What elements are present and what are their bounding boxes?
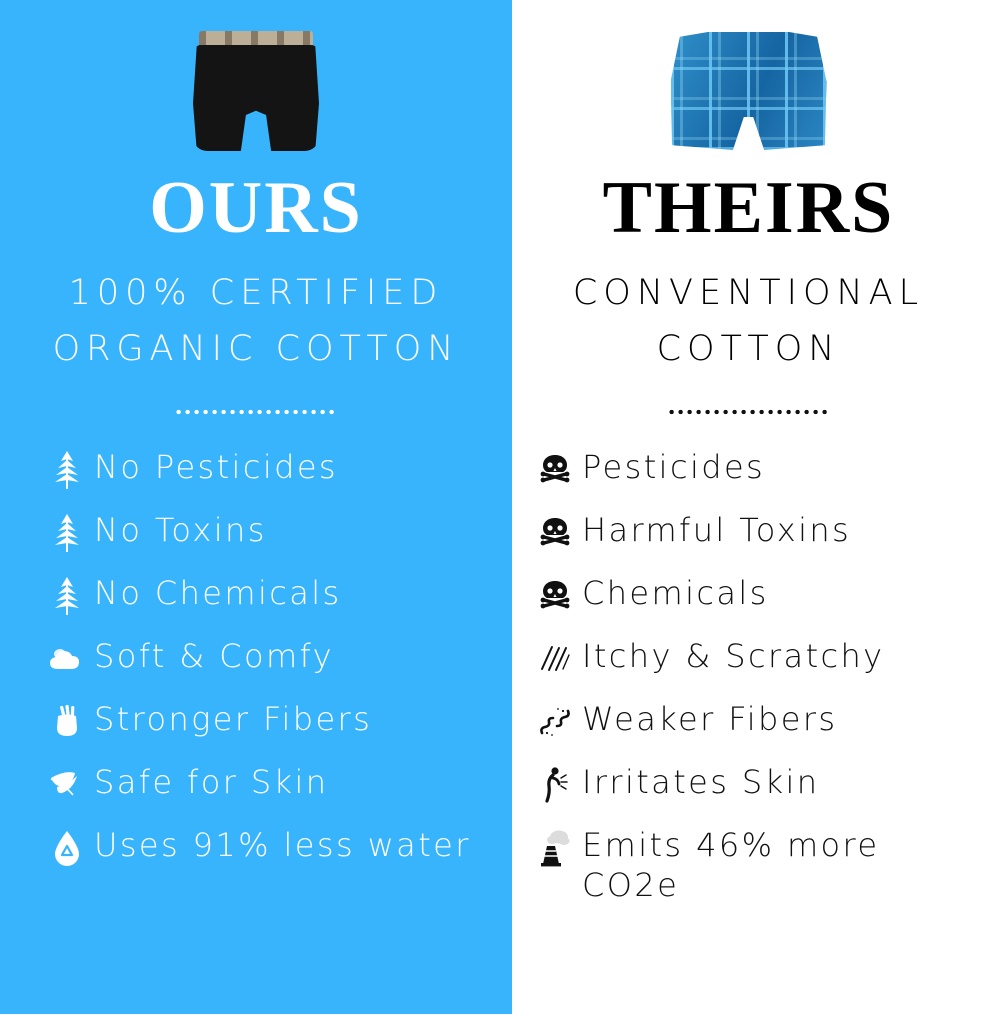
water-drop-recycle-icon bbox=[40, 825, 94, 871]
feature-list-theirs: Pesticides Harmful Toxins bbox=[512, 445, 985, 918]
list-item: Irritates Skin bbox=[528, 760, 977, 812]
page-title-ours: OURS bbox=[149, 172, 363, 245]
list-item: Chemicals bbox=[528, 571, 977, 623]
boxer-body bbox=[671, 32, 827, 150]
feature-label: Emits 46% more CO2e bbox=[582, 823, 977, 907]
feature-label: Irritates Skin bbox=[582, 760, 820, 803]
list-item: Soft & Comfy bbox=[40, 634, 504, 686]
fern-leaf-icon bbox=[40, 510, 94, 556]
feature-label: No Pesticides bbox=[94, 445, 338, 488]
panel-ours: OURS 100% CERTIFIED ORGANIC COTTON No Pe… bbox=[0, 0, 512, 1014]
list-item: Emits 46% more CO2e bbox=[528, 823, 977, 907]
feature-label: Uses 91% less water bbox=[94, 823, 471, 866]
list-item: Uses 91% less water bbox=[40, 823, 504, 875]
list-item: No Chemicals bbox=[40, 571, 504, 623]
feature-label: Itchy & Scratchy bbox=[582, 634, 885, 677]
cloud-icon bbox=[40, 636, 94, 682]
skull-crossbones-icon bbox=[528, 510, 582, 556]
broken-fiber-icon bbox=[528, 699, 582, 745]
list-item: No Toxins bbox=[40, 508, 504, 560]
panel-theirs: THEIRS CONVENTIONAL COTTON Pesticide bbox=[512, 0, 985, 1014]
person-scratching-icon bbox=[528, 762, 582, 808]
bottom-white-strip bbox=[0, 1014, 985, 1024]
list-item: No Pesticides bbox=[40, 445, 504, 497]
list-item: Itchy & Scratchy bbox=[528, 634, 977, 686]
feature-label: Stronger Fibers bbox=[94, 697, 372, 740]
list-item: Weaker Fibers bbox=[528, 697, 977, 749]
feature-label: Chemicals bbox=[582, 571, 769, 614]
feature-label: No Toxins bbox=[94, 508, 267, 551]
list-item: Pesticides bbox=[528, 445, 977, 497]
fist-icon bbox=[40, 699, 94, 745]
black-boxer-shorts-image bbox=[185, 31, 327, 151]
boxer-body bbox=[193, 45, 319, 151]
scratch-lines-icon bbox=[528, 636, 582, 682]
feature-label: Weaker Fibers bbox=[582, 697, 837, 740]
smokestack-icon bbox=[528, 825, 582, 871]
subtitle-ours: 100% CERTIFIED ORGANIC COTTON bbox=[0, 265, 512, 377]
feature-label: Harmful Toxins bbox=[582, 508, 851, 551]
product-image-ours bbox=[0, 0, 512, 168]
page-title-theirs: THEIRS bbox=[603, 172, 895, 245]
subtitle-theirs: CONVENTIONAL COTTON bbox=[512, 265, 985, 377]
list-item: Stronger Fibers bbox=[40, 697, 504, 749]
fern-leaf-icon bbox=[40, 447, 94, 493]
list-item: Safe for Skin bbox=[40, 760, 504, 812]
dotted-divider-ours bbox=[176, 409, 336, 415]
dotted-divider-theirs bbox=[669, 409, 829, 415]
fern-leaf-icon bbox=[40, 573, 94, 619]
skull-crossbones-icon bbox=[528, 573, 582, 619]
plaid-boxer-shorts-image bbox=[671, 32, 827, 150]
feature-label: Soft & Comfy bbox=[94, 634, 334, 677]
comparison-infographic: OURS 100% CERTIFIED ORGANIC COTTON No Pe… bbox=[0, 0, 985, 1024]
feature-label: No Chemicals bbox=[94, 571, 342, 614]
feature-list-ours: No Pesticides No Toxins bbox=[0, 445, 512, 886]
skull-crossbones-icon bbox=[528, 447, 582, 493]
feature-label: Safe for Skin bbox=[94, 760, 328, 803]
waistband bbox=[199, 31, 313, 47]
list-item: Harmful Toxins bbox=[528, 508, 977, 560]
feature-label: Pesticides bbox=[582, 445, 765, 488]
product-image-theirs bbox=[512, 0, 985, 168]
leaf-sprout-icon bbox=[40, 762, 94, 808]
